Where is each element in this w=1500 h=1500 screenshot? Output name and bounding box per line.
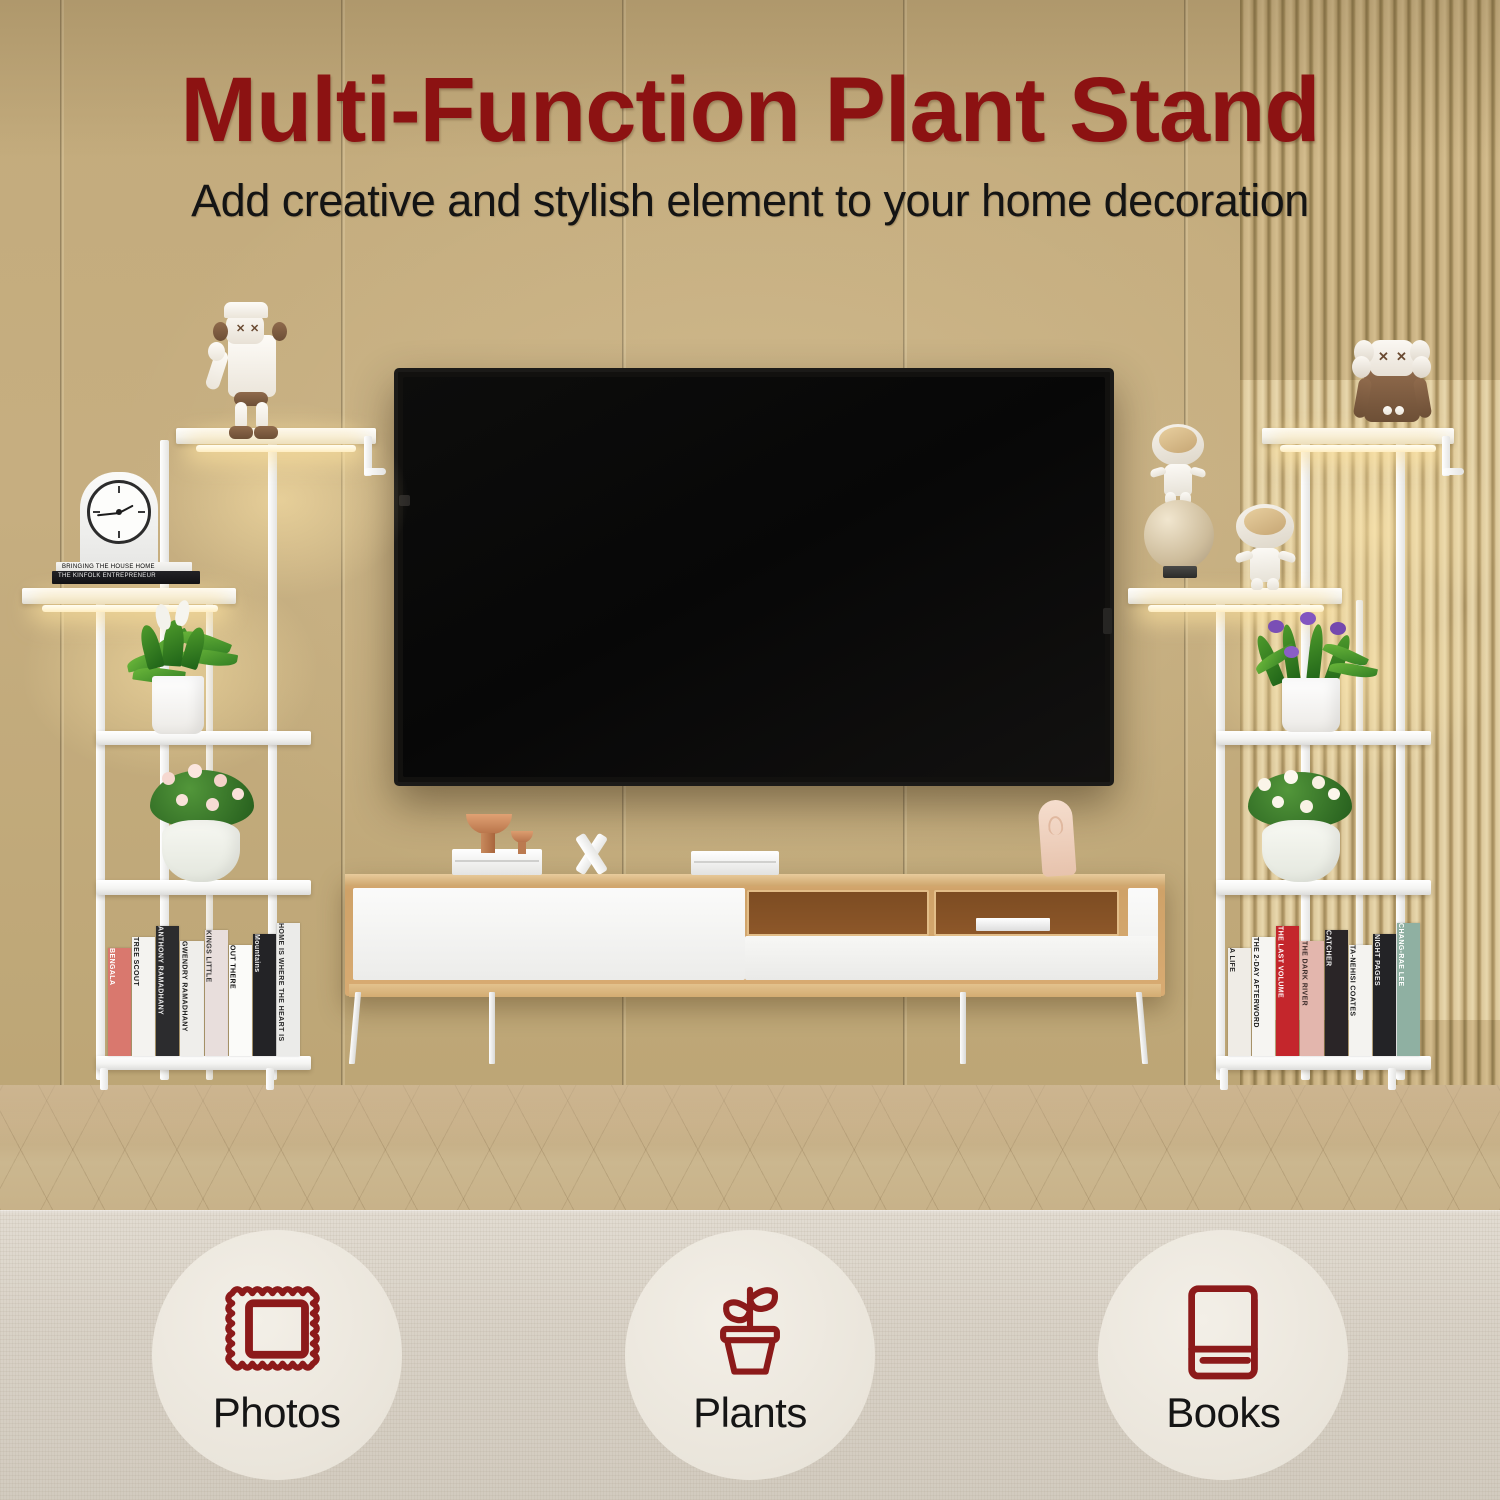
book-spine: THE 2-DAY AFTERWORD bbox=[1252, 937, 1275, 1056]
stand-shelf-bottom bbox=[1216, 1056, 1431, 1070]
moon-sphere-base bbox=[1163, 566, 1197, 578]
clock-center-pin bbox=[116, 509, 122, 515]
feature-photos[interactable]: Photos bbox=[132, 1230, 422, 1480]
astronaut-body bbox=[1250, 548, 1280, 582]
figurine-cap bbox=[224, 302, 268, 318]
flower bbox=[1330, 622, 1346, 635]
console-leg bbox=[960, 992, 966, 1064]
page-subtitle: Add creative and stylish element to your… bbox=[0, 175, 1500, 227]
book-spine: GWENDRY RAMADHANY bbox=[180, 941, 203, 1056]
figurine-eye-x: ✕ bbox=[236, 324, 245, 335]
copper-bowl-stem bbox=[481, 833, 495, 853]
stand-post bbox=[96, 600, 105, 1080]
flower bbox=[1312, 776, 1325, 789]
tv-bezel-sensor bbox=[399, 495, 410, 506]
stand-foot bbox=[100, 1068, 108, 1090]
flower bbox=[1258, 778, 1271, 791]
figurine-ear bbox=[272, 322, 287, 341]
flower bbox=[1300, 800, 1313, 813]
tv-console bbox=[345, 874, 1165, 996]
shelf-led-strip bbox=[1280, 445, 1436, 452]
face-sculpture bbox=[1037, 799, 1076, 877]
astronaut-leg bbox=[1267, 578, 1279, 590]
plant-pot bbox=[162, 820, 240, 882]
cubby-book-stack bbox=[976, 918, 1050, 931]
stand-post bbox=[1216, 600, 1225, 1080]
book-spine: CHANG-RAE LEE bbox=[1397, 923, 1420, 1056]
console-cubby-left bbox=[747, 890, 929, 936]
astronaut-visor bbox=[1244, 508, 1286, 536]
stand-shelf-lower bbox=[96, 880, 311, 895]
shelf-led-strip bbox=[1148, 605, 1324, 612]
feature-books[interactable]: Books bbox=[1078, 1230, 1368, 1480]
console-door-left bbox=[353, 888, 745, 980]
book-spine: TA-NEHISI COATES bbox=[1349, 945, 1372, 1056]
stand-shelf-display bbox=[1128, 588, 1342, 604]
flower bbox=[232, 788, 244, 800]
stand-shelf-bottom bbox=[96, 1056, 311, 1070]
figurine-ear bbox=[1412, 356, 1431, 378]
flower bbox=[176, 794, 188, 806]
plant-pot bbox=[1282, 678, 1340, 732]
figurine-shoe bbox=[229, 426, 253, 439]
plant-pot bbox=[1262, 820, 1340, 882]
flower bbox=[1268, 620, 1284, 633]
astronaut-figurine bbox=[1152, 424, 1204, 504]
kaws-figurine-right: ✕ ✕ bbox=[1338, 326, 1450, 438]
figurine-hand bbox=[208, 342, 225, 361]
flower bbox=[162, 772, 175, 785]
photo-frame-icon bbox=[221, 1273, 333, 1385]
console-leg bbox=[489, 992, 495, 1064]
stand-foot bbox=[1388, 1068, 1396, 1090]
flower bbox=[1284, 770, 1298, 784]
stand-hook bbox=[1442, 468, 1464, 475]
figurine-head bbox=[1370, 340, 1414, 376]
book-spine: Mountains bbox=[253, 934, 276, 1056]
feature-list: Photos Plants bbox=[0, 1210, 1500, 1500]
figurine-torso bbox=[228, 335, 276, 397]
astronaut-visor bbox=[1159, 427, 1196, 453]
console-book-stack-left bbox=[452, 849, 542, 875]
feature-label-photos: Photos bbox=[213, 1389, 341, 1437]
copper-vase-stem bbox=[518, 842, 526, 854]
clock-tick bbox=[118, 486, 120, 493]
tv-bezel-port bbox=[1103, 608, 1112, 634]
astronaut-helmet bbox=[1236, 504, 1294, 549]
shelf-led-strip bbox=[42, 605, 218, 612]
potted-plant-icon bbox=[694, 1273, 806, 1385]
book-spine: OUT THERE bbox=[229, 945, 252, 1056]
flower bbox=[1328, 788, 1340, 800]
figurine-torso bbox=[1364, 370, 1420, 422]
headline-block: Multi-Function Plant Stand Add creative … bbox=[0, 62, 1500, 227]
stand-shelf-middle bbox=[1216, 731, 1431, 745]
figurine-ear bbox=[213, 322, 228, 341]
figurine-eye-x: ✕ bbox=[250, 324, 259, 335]
flat-book-title: BRINGING THE HOUSE HOME bbox=[62, 564, 155, 570]
book-spine: ANTHONY RAMADHANY bbox=[156, 926, 179, 1056]
figurine-button bbox=[1395, 406, 1404, 415]
tv-screen bbox=[403, 377, 1105, 777]
feature-label-books: Books bbox=[1166, 1389, 1280, 1437]
astronaut-arm bbox=[1277, 549, 1297, 563]
product-scene-stage: Multi-Function Plant Stand Add creative … bbox=[0, 0, 1500, 1500]
stand-foot bbox=[1220, 1068, 1228, 1090]
clock-tick bbox=[118, 531, 120, 538]
book-spine: CATCHER bbox=[1325, 930, 1348, 1056]
white-x-sculpture bbox=[572, 834, 610, 874]
book-spine: HOME IS WHERE THE HEART IS bbox=[277, 923, 300, 1056]
flat-book: THE KINFOLK ENTREPRENEUR bbox=[52, 571, 200, 584]
console-base-rail bbox=[349, 984, 1161, 997]
stand-hook bbox=[364, 468, 386, 475]
flower bbox=[214, 774, 227, 787]
console-book-stack-center bbox=[691, 851, 779, 875]
wall-mounted-tv bbox=[394, 368, 1114, 786]
plant-pot bbox=[152, 676, 204, 734]
stand-foot bbox=[266, 1068, 274, 1090]
astronaut-helmet bbox=[1152, 424, 1204, 466]
book-icon bbox=[1167, 1273, 1279, 1385]
flower bbox=[1272, 796, 1284, 808]
book-spine: TREE SCOUT bbox=[132, 937, 155, 1056]
console-drawer-front bbox=[745, 936, 1158, 980]
astronaut-leg bbox=[1251, 578, 1263, 590]
flower bbox=[1284, 646, 1299, 658]
feature-banner: Photos Plants bbox=[0, 1210, 1500, 1500]
book-spine: THE DARK RIVER bbox=[1300, 941, 1323, 1056]
book-spine: NIGHT PAGES bbox=[1373, 934, 1396, 1056]
figurine-button bbox=[1383, 406, 1392, 415]
flower bbox=[206, 798, 219, 811]
shelf-led-strip bbox=[196, 445, 356, 452]
flat-book-title: THE KINFOLK ENTREPRENEUR bbox=[58, 573, 156, 579]
feature-plants[interactable]: Plants bbox=[605, 1230, 895, 1480]
console-top-surface bbox=[345, 874, 1165, 886]
figurine-shoe bbox=[254, 426, 278, 439]
book-spine: KINGS LITTLE bbox=[205, 930, 228, 1056]
book-spine: A LIFE bbox=[1228, 948, 1251, 1056]
stand-shelf-middle bbox=[96, 731, 311, 745]
clock-tick bbox=[138, 511, 145, 513]
clock-tick bbox=[93, 511, 100, 513]
console-cubby-right bbox=[934, 890, 1119, 936]
book-spine: BENGALA bbox=[108, 948, 131, 1056]
feature-label-plants: Plants bbox=[693, 1389, 807, 1437]
stand-shelf-lower bbox=[1216, 880, 1431, 895]
figurine-eye-x: ✕ bbox=[1396, 350, 1407, 363]
kaws-figurine-left: ✕ ✕ bbox=[198, 300, 310, 440]
clock-face bbox=[87, 480, 151, 544]
figurine-ear bbox=[1352, 356, 1371, 378]
flower bbox=[1300, 612, 1316, 625]
page-title: Multi-Function Plant Stand bbox=[0, 62, 1500, 159]
figurine-eye-x: ✕ bbox=[1378, 350, 1389, 363]
book-spine: THE LAST VOLUME bbox=[1276, 926, 1299, 1056]
floor-gloss-reflection bbox=[0, 1085, 1500, 1145]
astronaut-figurine-small bbox=[1236, 504, 1294, 590]
flower bbox=[188, 764, 202, 778]
stand-shelf-clock bbox=[22, 588, 236, 604]
moon-sphere bbox=[1144, 500, 1214, 570]
